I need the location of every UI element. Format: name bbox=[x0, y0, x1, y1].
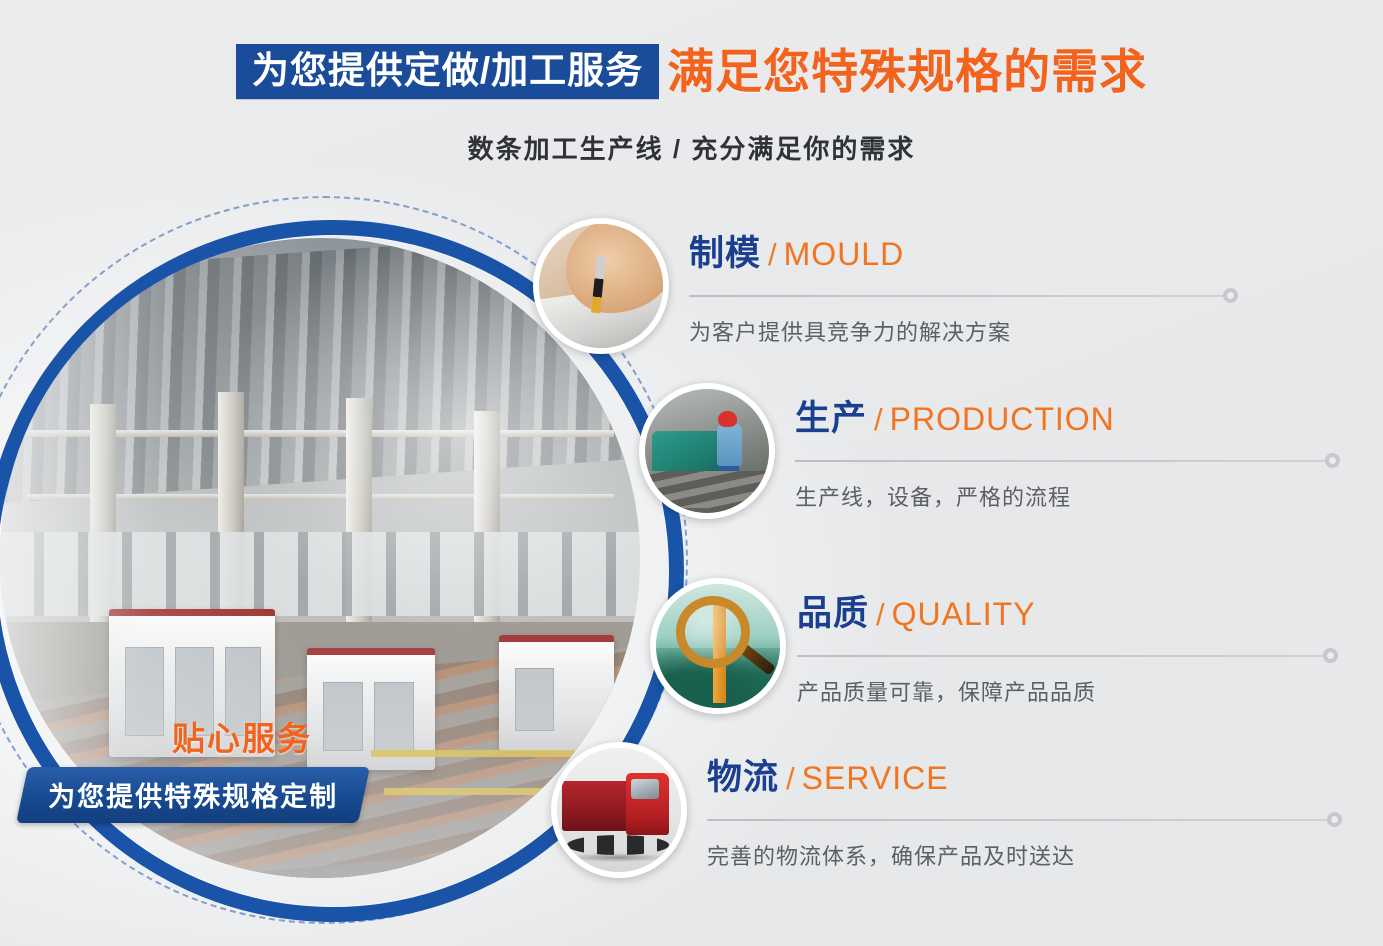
service-banner: 为您提供特殊规格定制 bbox=[16, 767, 370, 823]
feature-mould-text: 制模/MOULD 为客户提供具竞争力的解决方案 bbox=[689, 236, 1383, 347]
feature-production-en: PRODUCTION bbox=[890, 401, 1115, 437]
quality-magnifier-icon bbox=[650, 578, 786, 714]
header-subtitle: 数条加工生产线 / 充分满足你的需求 bbox=[0, 129, 1383, 166]
mould-pen-icon bbox=[533, 218, 669, 354]
feature-production-rule bbox=[795, 452, 1383, 470]
service-banner-label: 为您提供特殊规格定制 bbox=[48, 775, 338, 814]
promo-banner: 为您提供定做/加工服务 满足您特殊规格的需求 数条加工生产线 / 充分满足你的需… bbox=[0, 0, 1383, 946]
feature-service-rule bbox=[707, 811, 1383, 829]
header-badge: 为您提供定做/加工服务 bbox=[236, 44, 659, 99]
feature-service-cn: 物流 bbox=[707, 758, 779, 797]
feature-mould-desc: 为客户提供具竞争力的解决方案 bbox=[689, 315, 1383, 347]
feature-production-heading: 生产/PRODUCTION bbox=[795, 401, 1383, 436]
feature-production-text: 生产/PRODUCTION 生产线，设备，严格的流程 bbox=[795, 401, 1383, 512]
feature-service-desc: 完善的物流体系，确保产品及时送达 bbox=[707, 839, 1383, 871]
feature-quality-rule bbox=[797, 647, 1383, 665]
feature-mould-en: MOULD bbox=[784, 236, 905, 272]
feature-quality-sep: / bbox=[876, 597, 885, 632]
feature-quality-cn: 品质 bbox=[797, 594, 869, 633]
feature-quality-text: 品质/QUALITY 产品质量可靠，保障产品品质 bbox=[797, 596, 1383, 707]
feature-mould-rule bbox=[689, 287, 1383, 305]
feature-service-heading: 物流/SERVICE bbox=[707, 760, 1383, 795]
production-worker-icon bbox=[639, 383, 775, 519]
logistics-truck-icon bbox=[551, 742, 687, 878]
feature-production-desc: 生产线，设备，严格的流程 bbox=[795, 480, 1383, 512]
feature-quality-desc: 产品质量可靠，保障产品品质 bbox=[797, 675, 1383, 707]
feature-quality-en: QUALITY bbox=[892, 596, 1036, 632]
feature-mould-heading: 制模/MOULD bbox=[689, 236, 1383, 271]
feature-service-text: 物流/SERVICE 完善的物流体系，确保产品及时送达 bbox=[707, 760, 1383, 871]
feature-production-sep: / bbox=[874, 402, 883, 437]
title-row: 为您提供定做/加工服务 满足您特殊规格的需求 bbox=[0, 44, 1383, 99]
header: 为您提供定做/加工服务 满足您特殊规格的需求 数条加工生产线 / 充分满足你的需… bbox=[0, 44, 1383, 166]
page-title: 满足您特殊规格的需求 bbox=[667, 48, 1147, 95]
feature-mould-sep: / bbox=[768, 237, 777, 272]
feature-service-sep: / bbox=[786, 761, 795, 796]
feature-mould-cn: 制模 bbox=[689, 234, 761, 273]
feature-quality-heading: 品质/QUALITY bbox=[797, 596, 1383, 631]
feature-production-cn: 生产 bbox=[795, 399, 867, 438]
service-title: 贴心服务 bbox=[172, 712, 312, 760]
feature-service-en: SERVICE bbox=[802, 760, 949, 796]
